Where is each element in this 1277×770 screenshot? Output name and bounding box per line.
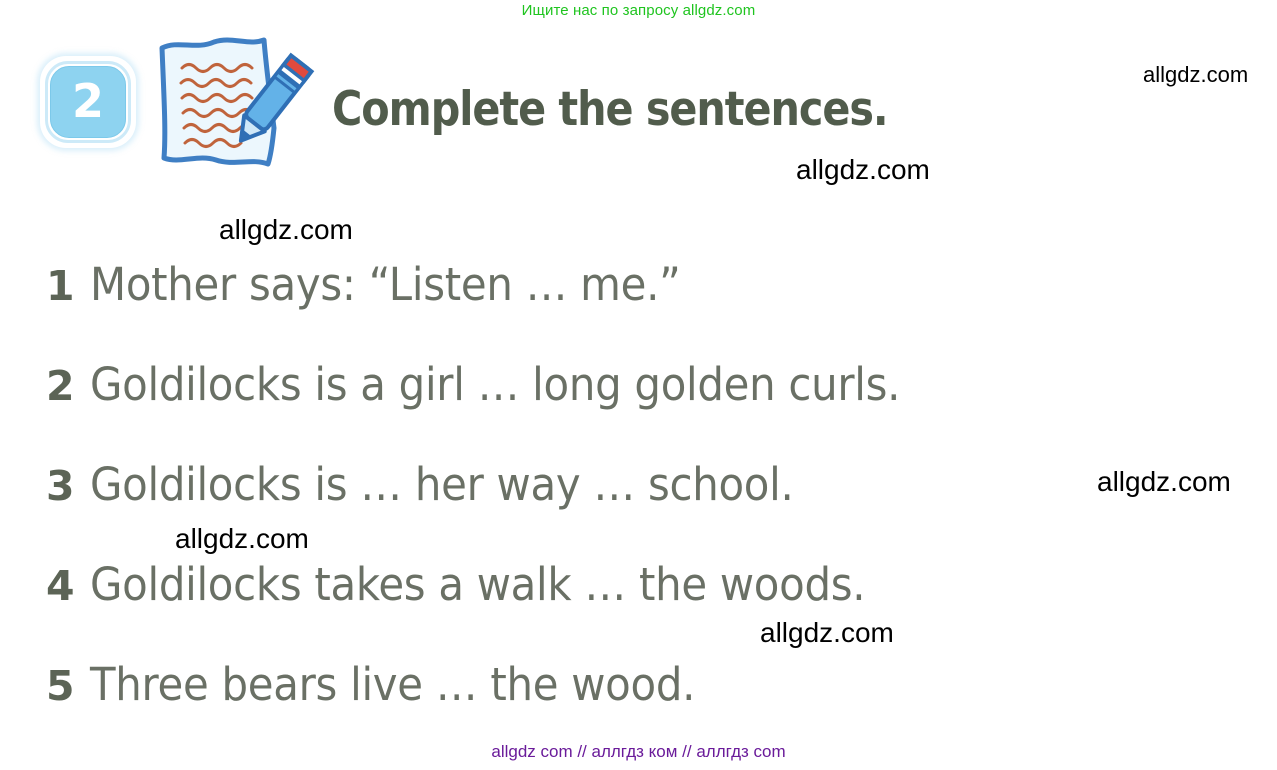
paper-and-pencil-icon <box>148 36 320 168</box>
watermark: allgdz.com <box>219 214 353 246</box>
watermark: allgdz.com <box>1143 62 1248 88</box>
exercise-number-badge: 2 <box>36 52 144 156</box>
page-title: Complete the sentences. <box>332 82 888 137</box>
promo-banner-text: Ищите нас по запросу allgdz.com <box>0 2 1277 19</box>
watermark: allgdz.com <box>760 617 894 649</box>
sentence-text: Goldilocks is … her way … school. <box>90 458 793 511</box>
sentence-number: 1 <box>46 262 90 310</box>
sentence-text: Three bears live … the wood. <box>90 658 695 711</box>
worksheet-page: Ищите нас по запросу allgdz.com 2 <box>0 0 1277 770</box>
sentence-number: 5 <box>46 662 90 710</box>
sentence-number: 4 <box>46 562 90 610</box>
sentence-number: 2 <box>46 362 90 410</box>
exercise-number-label: 2 <box>50 66 126 138</box>
watermark: allgdz.com <box>796 154 930 186</box>
sentence-text: Goldilocks takes a walk … the woods. <box>90 558 865 611</box>
watermark: allgdz.com <box>175 523 309 555</box>
sentence-number: 3 <box>46 462 90 510</box>
list-item: 1 Mother says: “Listen … me.” <box>46 258 1246 358</box>
sentence-text: Mother says: “Listen … me.” <box>90 258 681 311</box>
footer-text: allgdz com // аллгдз ком // аллгдз com <box>0 742 1277 762</box>
sentence-text: Goldilocks is a girl … long golden curls… <box>90 358 900 411</box>
sentence-list: 1 Mother says: “Listen … me.” 2 Goldiloc… <box>46 258 1246 758</box>
list-item: 2 Goldilocks is a girl … long golden cur… <box>46 358 1246 458</box>
list-item: 4 Goldilocks takes a walk … the woods. <box>46 558 1246 658</box>
watermark: allgdz.com <box>1097 466 1231 498</box>
